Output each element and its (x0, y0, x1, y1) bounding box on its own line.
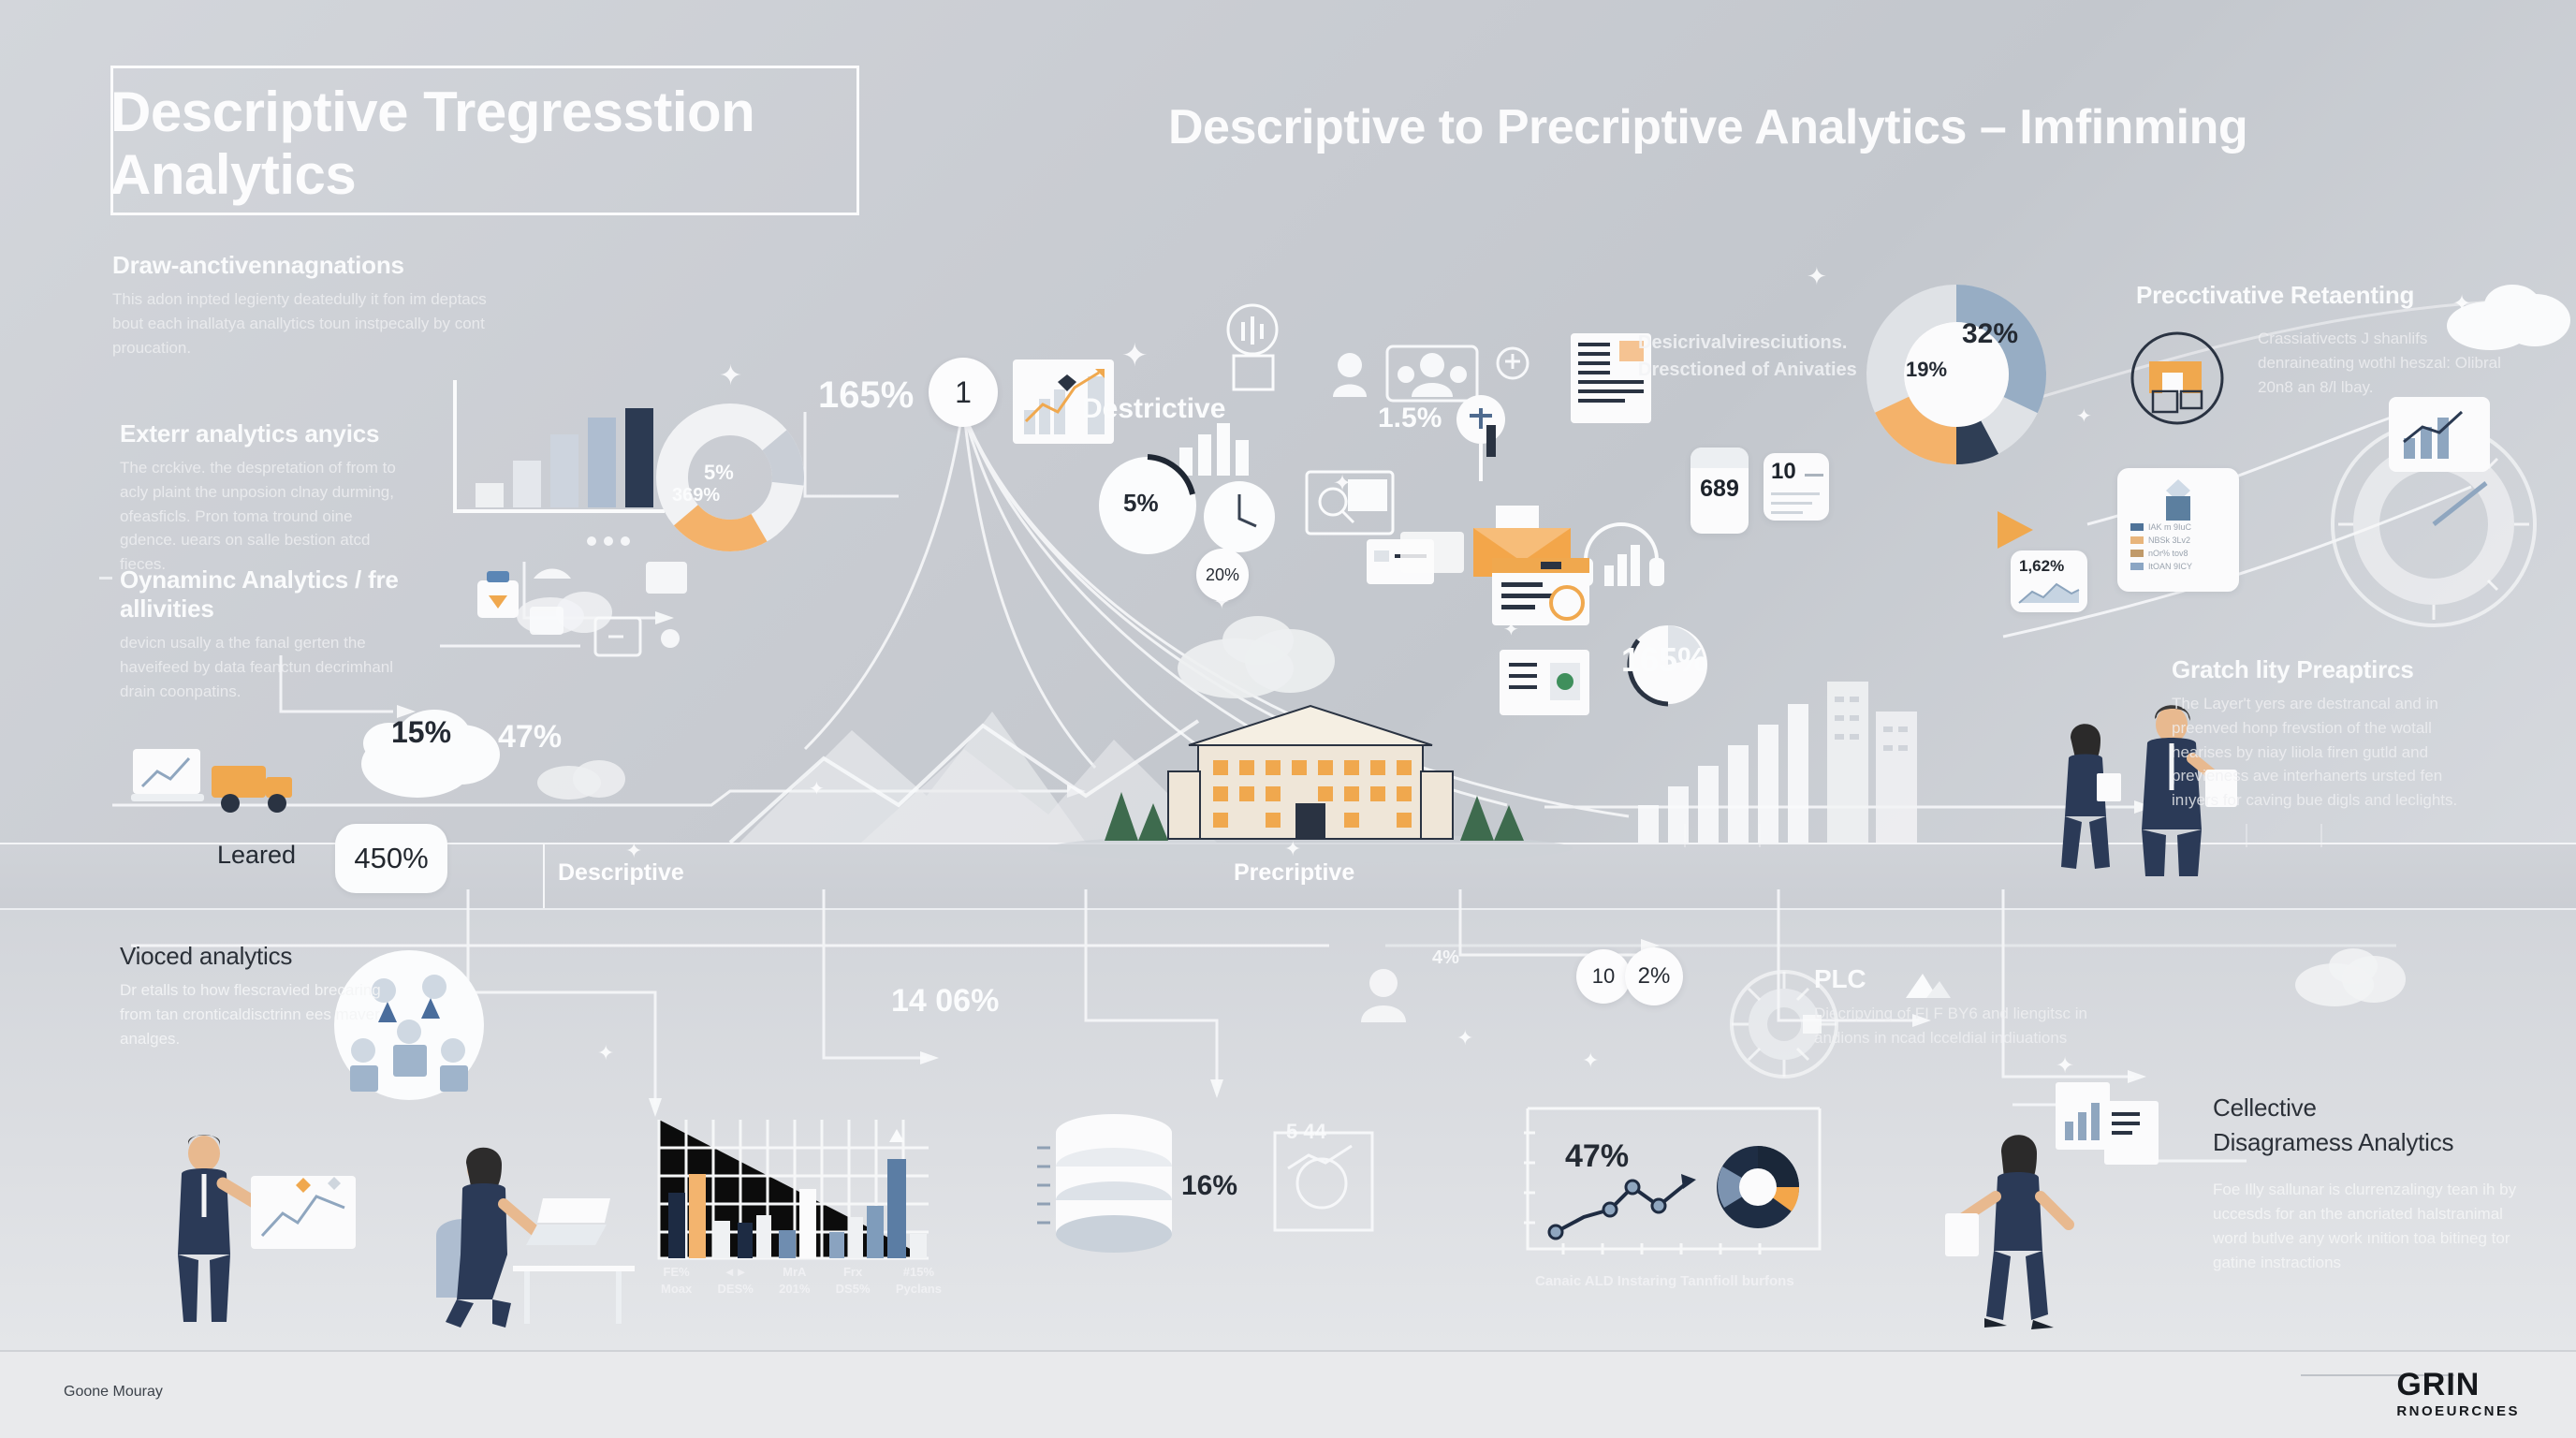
left-block-1: Draw-anctivennagnations This adon inpted… (112, 251, 487, 359)
metric-pct-47-line: 47% (1565, 1138, 1629, 1175)
phase-label-descriptive: Descriptive (558, 859, 684, 887)
metric-pct-165-right: 165% (1621, 640, 1707, 680)
sparkle-icon-7: ✦ (2076, 404, 2092, 428)
bar-caption-1a: FE% (661, 1264, 692, 1281)
bar-caption-5b: Pyclans (896, 1281, 942, 1298)
bottom-block-collective-heading-2: Disagramess Analytics (2213, 1128, 2540, 1157)
person-node-icon (1333, 949, 1436, 1052)
bar-chart-captions: FE% Moax ◄► DES% MrA 201% Frx DS5% #15% … (661, 1264, 942, 1297)
report-icon (1496, 640, 1599, 734)
metric-count-689: 689 (1690, 476, 1749, 503)
metric-pct-5-donut-left: 5% (704, 461, 734, 485)
right-block-2: Gratch lity Preaptircs The Layer't yers … (2172, 655, 2471, 813)
metric-card-689: 689 (1690, 448, 1749, 534)
metric-pct-15-upper: 1.5% (1378, 403, 1442, 434)
database-icon (1030, 1105, 1198, 1292)
sparkline-icon (2019, 580, 2079, 605)
infographic-canvas: 5% 369% 32% 19% IAK m 9IuC NBSk 3Lv2 (0, 0, 2576, 1438)
metric-pct-5-circle: 5% (1123, 489, 1159, 518)
bar-caption-5a: #15% (896, 1264, 942, 1281)
plc-body: Diecripving of FI F BY6 and liengitsc in… (1814, 1002, 2095, 1050)
chart-frame-small (1273, 1131, 1376, 1234)
page-title-left: Descriptive Tregresstion Analytics (110, 81, 878, 206)
phase-label-precriptive: Precriptive (1234, 859, 1354, 887)
page-title-right: Descriptive to Precriptive Analytics – I… (1168, 99, 2525, 155)
bar-caption-3a: MrA (779, 1264, 810, 1281)
left-block-2: Exterr analytics anyics The crckive. the… (120, 419, 401, 577)
page-title-left-line1: Descriptive Tregresstion (110, 81, 878, 143)
left-block-3-body: devicn usally a the fanal gerten the hav… (120, 631, 410, 703)
sparkle-icon-6: ✦ (1503, 618, 1519, 641)
line-chart-caption: Canaic ALD Instaring Tannfioll burfons (1535, 1273, 1794, 1289)
bottom-block-voiced: Vioced analytics Dr etalls to how flescr… (120, 942, 382, 1051)
metric-pct-369-donut: 369% (672, 485, 720, 506)
left-block-2-body: The crckive. the despretation of from to… (120, 456, 401, 577)
bar-card-decor (447, 373, 672, 522)
bar-caption-1b: Moax (661, 1281, 692, 1298)
brand-logo-main: GRIN (2396, 1369, 2520, 1401)
seated-analyst-illustration (402, 1123, 665, 1348)
leared-value-pill: 450% (335, 824, 447, 893)
metric-pct-47-top: 47% (498, 719, 562, 756)
leared-label: Leared (217, 841, 296, 870)
sparkle-icon-15: ✦ (809, 777, 825, 800)
sparkle-icon-12: ✦ (1284, 837, 1301, 861)
sparkle-icon-4: ✦ (1333, 470, 1352, 497)
sparkle-icon-5: ✦ (1213, 590, 1230, 614)
right-block-2-body: The Layer't yers are destrancal and in p… (2172, 692, 2471, 813)
sparkle-icon-1: ✦ (719, 359, 742, 392)
left-block-1-heading: Draw-anctivennagnations (112, 251, 487, 280)
pin-marker-icon (1442, 391, 1535, 485)
funnel-icon (1206, 298, 1318, 401)
sparkle-icon-13: ✦ (625, 839, 642, 863)
cart-icon (449, 543, 637, 655)
play-marker-icon (1992, 506, 2048, 552)
building-illustration (1048, 693, 1573, 861)
metric-pct-15-cloud: 15% (391, 715, 451, 750)
metric-pct-32-donut: 32% (1962, 318, 2018, 350)
left-block-3-heading: Oynaminc Analytics / fre allivities (120, 565, 410, 624)
right-block-1-body: Crassiativects J shanlifs denraineating … (2258, 327, 2510, 399)
bullet-dash (99, 577, 112, 580)
bottom-block-collective: Cellective Disagramess Analytics Foe Ill… (2213, 1093, 2540, 1275)
metric-card-162: 1,62% (2011, 550, 2087, 612)
clock-icon (1198, 476, 1282, 560)
cloud-icon-5 (1161, 599, 1348, 702)
descriptions-note-line1: Desicrivalviresciutions. (1638, 330, 1938, 357)
label-destrictive: Destrictive (1082, 393, 1225, 425)
metric-pct-162-card: 1,62% (2019, 557, 2064, 576)
legend-label-4: ItOAN 9ICY (2148, 562, 2192, 571)
left-block-2-heading: Exterr analytics anyics (120, 419, 401, 448)
page-title-left-line2: Analytics (110, 143, 878, 206)
phase-divider-1 (543, 844, 545, 908)
bottom-block-voiced-body: Dr etalls to how flescravied brecaring f… (120, 978, 382, 1050)
bar-caption-4b: DS5% (836, 1281, 871, 1298)
sparkle-icon-2: ✦ (1121, 337, 1149, 374)
brand-logo: GRIN RNOEURCNES (2396, 1369, 2520, 1419)
metric-pct-165-left: 165% (818, 374, 914, 417)
left-block-1-body: This adon inpted legienty deatedully it … (112, 287, 487, 359)
metric-pct-544: 5 44 (1286, 1120, 1326, 1144)
metric-card-10: 10 (1764, 453, 1829, 521)
laptop-truck-icon (131, 740, 318, 824)
bar-caption-4a: Frx (836, 1264, 871, 1281)
doc-chart-icon-lower (2050, 1077, 2172, 1180)
sparkle-icon-3: ✦ (1807, 262, 1827, 291)
line-chart (1524, 1105, 1842, 1273)
presenter-illustration (150, 1114, 431, 1329)
bottom-block-collective-body: Foe Illy sallunar is clurrenzalingy tean… (2213, 1178, 2540, 1274)
bar-chart (655, 1116, 936, 1284)
metric-pct-2-lower: 2% (1625, 947, 1683, 1005)
metric-count-10: 10 (1771, 459, 1796, 485)
step-badge-one: 1 (929, 358, 998, 427)
sparkle-icon-8: ✦ (2056, 1052, 2074, 1079)
mountain-badge-icon (1900, 966, 1956, 1004)
bottom-block-voiced-heading: Vioced analytics (120, 942, 382, 971)
metric-count-10-lower: 10 (1576, 949, 1631, 1004)
sparkle-icon-11: ✦ (1456, 1026, 1473, 1050)
footer-caption: Goone Mouray (64, 1384, 163, 1401)
bar-caption-3b: 201% (779, 1281, 810, 1298)
metric-pct-1406: 14 06% (891, 983, 999, 1020)
bottom-block-collective-heading-1: Cellective (2213, 1093, 2540, 1123)
sparkle-icon-10: ✦ (597, 1041, 614, 1065)
sparkle-icon-9: ✦ (1582, 1049, 1599, 1073)
descriptions-note-line2: Dresctioned of Anivaties (1638, 357, 1938, 384)
bar-caption-2b: DES% (718, 1281, 754, 1298)
card-payment-icon (1365, 526, 1477, 610)
legend-swatch-4 (2130, 563, 2144, 570)
left-block-3: Oynaminc Analytics / fre allivities devi… (120, 565, 410, 703)
brand-logo-sub: RNOEURCNES (2396, 1403, 2520, 1419)
bar-caption-2a: ◄► (718, 1264, 754, 1281)
right-block-2-heading: Gratch lity Preaptircs (2172, 655, 2471, 684)
cloud-icon-2 (2284, 936, 2424, 1011)
sparkle-icon-14: ✦ (2452, 290, 2471, 317)
descriptions-note: Desicrivalviresciutions. Dresctioned of … (1638, 330, 1938, 384)
chart-tablet-icon (2385, 393, 2497, 483)
metric-pct-16-db: 16% (1181, 1170, 1237, 1202)
metric-pct-4-small: 4% (1432, 947, 1459, 969)
